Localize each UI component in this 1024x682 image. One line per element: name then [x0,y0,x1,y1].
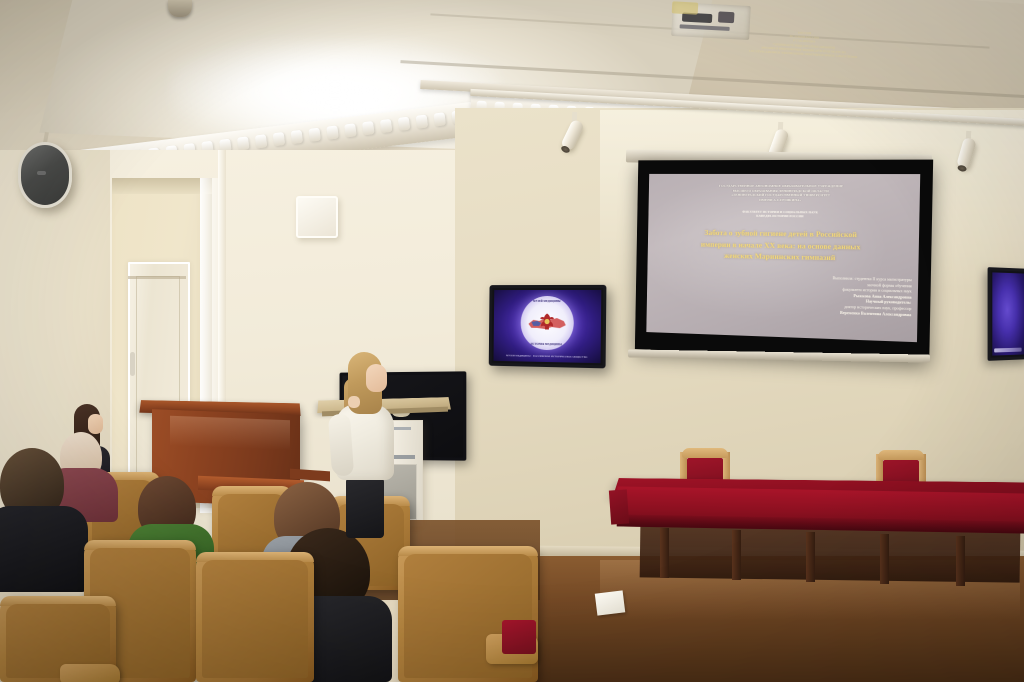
chair-back-rail [682,448,728,458]
smoke-detector-icon [168,0,192,17]
emblem-icon: МУЗЕЙ МЕДИЦИНЫ ИСТОРИЯ МЕДИЦИНЫ [520,296,574,351]
cornice-dentil [255,134,268,148]
door-handle[interactable] [130,352,135,376]
seat-armrest [60,664,120,682]
slide-author-block: Выполнила: студентка II курса магистрату… [730,273,912,318]
reflection-shape [680,24,730,31]
cornice-dentil [416,114,429,128]
seat-back [202,560,308,678]
monitor-screen [992,272,1024,355]
cornice-dentil [273,132,286,146]
face [366,364,387,392]
slide-title: Забота о зубной гигиене детей в Российск… [657,226,909,265]
legs [346,476,384,538]
reflection-shape [718,11,735,23]
wall-monitor-right[interactable] [988,267,1024,361]
chair-back-rail [878,450,924,460]
door-rail [128,276,186,279]
table-leg [880,534,889,584]
cornice-dentil [344,123,357,137]
slide-organization-text: ГОСУДАРСТВЕННОЕ АВТОНОМНОЕ ОБРАЗОВАТЕЛЬН… [649,184,920,204]
cornice-dentil [237,136,250,150]
audience-torso [0,506,88,592]
emblem-top-text: МУЗЕЙ МЕДИЦИНЫ [520,300,573,303]
presentation-slide: ГОСУДАРСТВЕННОЕ АВТОНОМНОЕ ОБРАЗОВАТЕЛЬН… [646,174,920,342]
cornice-dentil [362,121,375,135]
table-cloth-drape [609,489,629,524]
wall-monitor-emblem[interactable]: МУЗЕЙ МЕДИЦИНЫ ИСТОРИЯ МЕДИЦИНЫ МУЗЕЙ МЕ… [489,285,607,369]
monitor-screen: МУЗЕЙ МЕДИЦИНЫ ИСТОРИЯ МЕДИЦИНЫ МУЗЕЙ МЕ… [494,290,602,363]
cornice-dentil [398,117,411,131]
cornice-dentil [433,112,446,126]
table-leg [660,528,669,578]
double-headed-eagle-icon [538,312,555,331]
conference-hall-photo: ГОСУДАРСТВЕННОЕ АВТОНОМНОЕ ОБРАЗОВАТЕЛЬН… [0,0,1024,682]
wall-speaker-icon [296,196,338,238]
table-leg [806,532,815,582]
paper-sheet[interactable] [595,590,625,615]
projection-screen: ГОСУДАРСТВЕННОЕ АВТОНОМНОЕ ОБРАЗОВАТЕЛЬН… [635,160,933,362]
cornice-dentil [380,119,393,133]
hand [348,396,360,408]
reflection-highlight [672,1,699,14]
cornice-dentil [291,130,304,144]
arm [328,413,354,476]
face [88,414,103,434]
wall-speaker-icon [18,142,72,208]
emblem-bottom-text: ИСТОРИЯ МЕДИЦИНЫ [520,343,573,347]
auditorium-seat[interactable] [196,552,314,682]
table-leg [956,536,965,586]
cornice-dentil [308,128,321,142]
cornice-dentil [326,125,339,139]
piano-highlight [170,416,290,451]
monitor-caption: МУЗЕЙ МЕДИЦИНЫ · РОССИЙСКОЕ ИСТОРИЧЕСКОЕ… [499,354,594,359]
table-leg [732,530,741,580]
alcove-lintel [112,178,212,194]
seat-cushion [502,620,536,654]
